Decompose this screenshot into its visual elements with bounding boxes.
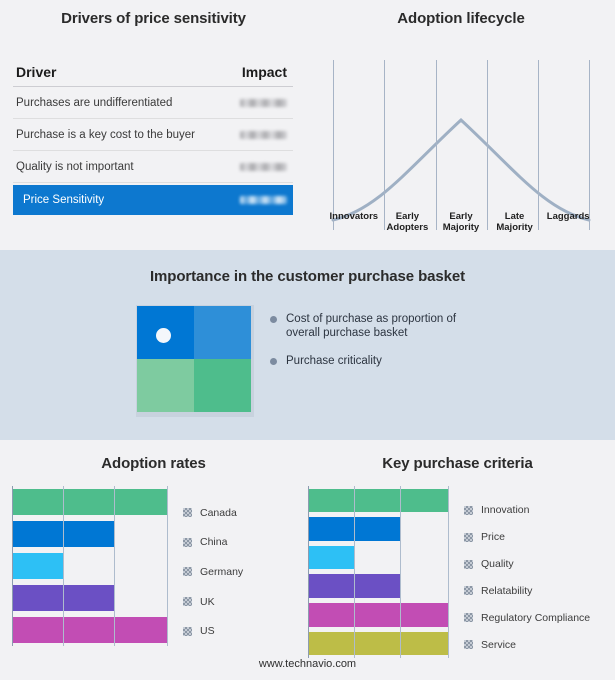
- key-purchase-criteria-legend: InnovationPriceQualityRelatabilityRegula…: [464, 486, 590, 658]
- lifecycle-divider-5: [589, 60, 590, 230]
- bar-row: [12, 550, 167, 582]
- impact-value-redacted: [240, 196, 287, 204]
- legend-swatch-icon: [183, 567, 192, 576]
- table-row[interactable]: Purchase is a key cost to the buyer: [13, 119, 293, 151]
- lifecycle-divider-0: [333, 60, 334, 230]
- list-item: Cost of purchase as proportion of overal…: [270, 312, 570, 340]
- lifecycle-divider-2: [436, 60, 437, 230]
- legend-swatch-icon: [183, 597, 192, 606]
- legend-label: US: [200, 625, 215, 637]
- key-purchase-criteria-panel: Key purchase criteria InnovationPriceQua…: [300, 440, 615, 680]
- lifecycle-stage-label: EarlyAdopters: [381, 211, 435, 233]
- table-row[interactable]: Quality is not important: [13, 151, 293, 183]
- basket-legend-label: Cost of purchase as proportion of overal…: [286, 312, 486, 340]
- legend-label: UK: [200, 596, 215, 608]
- gridline: [12, 486, 13, 646]
- gridline: [448, 486, 449, 658]
- gridline: [354, 486, 355, 658]
- legend-label: Canada: [200, 507, 237, 519]
- bar[interactable]: [308, 632, 448, 656]
- bar-row: [308, 601, 448, 630]
- legend-item[interactable]: Regulatory Compliance: [464, 604, 590, 631]
- legend-label: Relatability: [481, 585, 532, 597]
- lifecycle-stage-label: EarlyMajority: [434, 211, 488, 233]
- adoption-rates-legend: CanadaChinaGermanyUKUS: [183, 486, 243, 646]
- quadrant-matrix: [137, 306, 251, 412]
- bullet-icon: [270, 316, 277, 323]
- legend-item[interactable]: Innovation: [464, 497, 590, 524]
- driver-label: Purchases are undifferentiated: [16, 97, 172, 109]
- lifecycle-stage-label: Innovators: [327, 211, 381, 233]
- footer-url: www.technavio.com: [0, 658, 615, 670]
- drivers-table: Driver Impact Purchases are undifferenti…: [13, 64, 293, 215]
- legend-swatch-icon: [464, 560, 473, 569]
- bar-row: [308, 629, 448, 658]
- legend-label: Price: [481, 531, 505, 543]
- bar-row: [12, 486, 167, 518]
- legend-swatch-icon: [183, 508, 192, 517]
- infographic-page: Drivers of price sensitivity Driver Impa…: [0, 0, 615, 680]
- legend-item[interactable]: Price: [464, 524, 590, 551]
- legend-swatch-icon: [464, 533, 473, 542]
- bar[interactable]: [12, 553, 63, 579]
- key-purchase-criteria-plot: [308, 486, 448, 658]
- column-header-impact: Impact: [242, 64, 287, 80]
- drivers-of-price-sensitivity-panel: Drivers of price sensitivity Driver Impa…: [0, 0, 307, 250]
- lifecycle-panel-title: Adoption lifecycle: [307, 10, 615, 27]
- bar[interactable]: [12, 617, 167, 643]
- quadrant-top-right: [194, 306, 251, 359]
- legend-item[interactable]: US: [183, 616, 243, 646]
- legend-item[interactable]: UK: [183, 587, 243, 617]
- adoption-rates-plot: [12, 486, 167, 646]
- lifecycle-stage-labels: InnovatorsEarlyAdoptersEarlyMajorityLate…: [327, 211, 595, 233]
- bar-row: [308, 515, 448, 544]
- legend-item[interactable]: Germany: [183, 557, 243, 587]
- legend-label: Quality: [481, 558, 514, 570]
- key-purchase-criteria-title: Key purchase criteria: [300, 455, 615, 472]
- adoption-rates-chart: CanadaChinaGermanyUKUS: [12, 486, 297, 646]
- bar-row: [308, 486, 448, 515]
- gridline: [400, 486, 401, 658]
- lifecycle-stage-label: Laggards: [541, 211, 595, 233]
- lifecycle-divider-1: [384, 60, 385, 230]
- legend-item[interactable]: Relatability: [464, 577, 590, 604]
- legend-swatch-icon: [183, 538, 192, 547]
- legend-item[interactable]: Quality: [464, 551, 590, 578]
- bar[interactable]: [308, 489, 448, 513]
- drivers-table-header: Driver Impact: [13, 64, 293, 87]
- bar-row: [12, 582, 167, 614]
- bar-row: [12, 614, 167, 646]
- legend-item[interactable]: Canada: [183, 498, 243, 528]
- bullet-icon: [270, 358, 277, 365]
- lifecycle-divider-3: [487, 60, 488, 230]
- lifecycle-stage-label: LateMajority: [488, 211, 542, 233]
- driver-label: Purchase is a key cost to the buyer: [16, 129, 195, 141]
- list-item: Purchase criticality: [270, 354, 570, 368]
- bar-group: [12, 486, 167, 646]
- legend-swatch-icon: [464, 613, 473, 622]
- legend-label: Service: [481, 639, 516, 651]
- bar[interactable]: [12, 489, 167, 515]
- position-marker-dot: [156, 328, 171, 343]
- bar-row: [12, 518, 167, 550]
- key-purchase-criteria-chart: InnovationPriceQualityRelatabilityRegula…: [308, 486, 613, 658]
- quadrant-top-left: [137, 306, 194, 359]
- gridline: [114, 486, 115, 646]
- impact-value-redacted: [240, 99, 287, 107]
- adoption-lifecycle-panel: Adoption lifecycle InnovatorsEarlyAdopte…: [307, 0, 615, 250]
- legend-item[interactable]: China: [183, 528, 243, 558]
- legend-label: Germany: [200, 566, 243, 578]
- legend-swatch-icon: [464, 506, 473, 515]
- bar[interactable]: [308, 603, 448, 627]
- table-row[interactable]: Purchases are undifferentiated: [13, 87, 293, 119]
- bar-row: [308, 572, 448, 601]
- legend-label: Innovation: [481, 504, 529, 516]
- gridline: [63, 486, 64, 646]
- drivers-panel-title: Drivers of price sensitivity: [0, 10, 307, 27]
- lifecycle-divider-4: [538, 60, 539, 230]
- gridline: [167, 486, 168, 646]
- bar-row: [308, 543, 448, 572]
- basket-legend-label: Purchase criticality: [286, 354, 382, 368]
- bar[interactable]: [308, 546, 354, 570]
- table-row[interactable]: Price Sensitivity: [13, 185, 293, 215]
- legend-swatch-icon: [183, 627, 192, 636]
- legend-swatch-icon: [464, 586, 473, 595]
- lifecycle-plot: InnovatorsEarlyAdoptersEarlyMajorityLate…: [327, 60, 595, 235]
- basket-legend: Cost of purchase as proportion of overal…: [270, 312, 570, 382]
- drivers-table-body: Purchases are undifferentiatedPurchase i…: [13, 87, 293, 215]
- legend-item[interactable]: Service: [464, 631, 590, 658]
- bar-group: [308, 486, 448, 658]
- column-header-driver: Driver: [16, 64, 56, 80]
- purchase-basket-panel: Importance in the customer purchase bask…: [0, 250, 615, 440]
- impact-value-redacted: [240, 131, 287, 139]
- basket-panel-title: Importance in the customer purchase bask…: [0, 268, 615, 285]
- driver-label: Price Sensitivity: [23, 194, 104, 206]
- legend-label: Regulatory Compliance: [481, 612, 590, 624]
- adoption-rates-panel: Adoption rates CanadaChinaGermanyUKUS: [0, 440, 307, 680]
- legend-label: China: [200, 536, 227, 548]
- adoption-rates-title: Adoption rates: [0, 455, 307, 472]
- quadrant-bottom-left: [137, 359, 194, 412]
- impact-value-redacted: [240, 163, 287, 171]
- quadrant-bottom-right: [194, 359, 251, 412]
- legend-swatch-icon: [464, 640, 473, 649]
- driver-label: Quality is not important: [16, 161, 134, 173]
- quadrant-matrix-frame: [136, 305, 254, 417]
- gridline: [308, 486, 309, 658]
- adoption-bell-curve: [327, 60, 595, 232]
